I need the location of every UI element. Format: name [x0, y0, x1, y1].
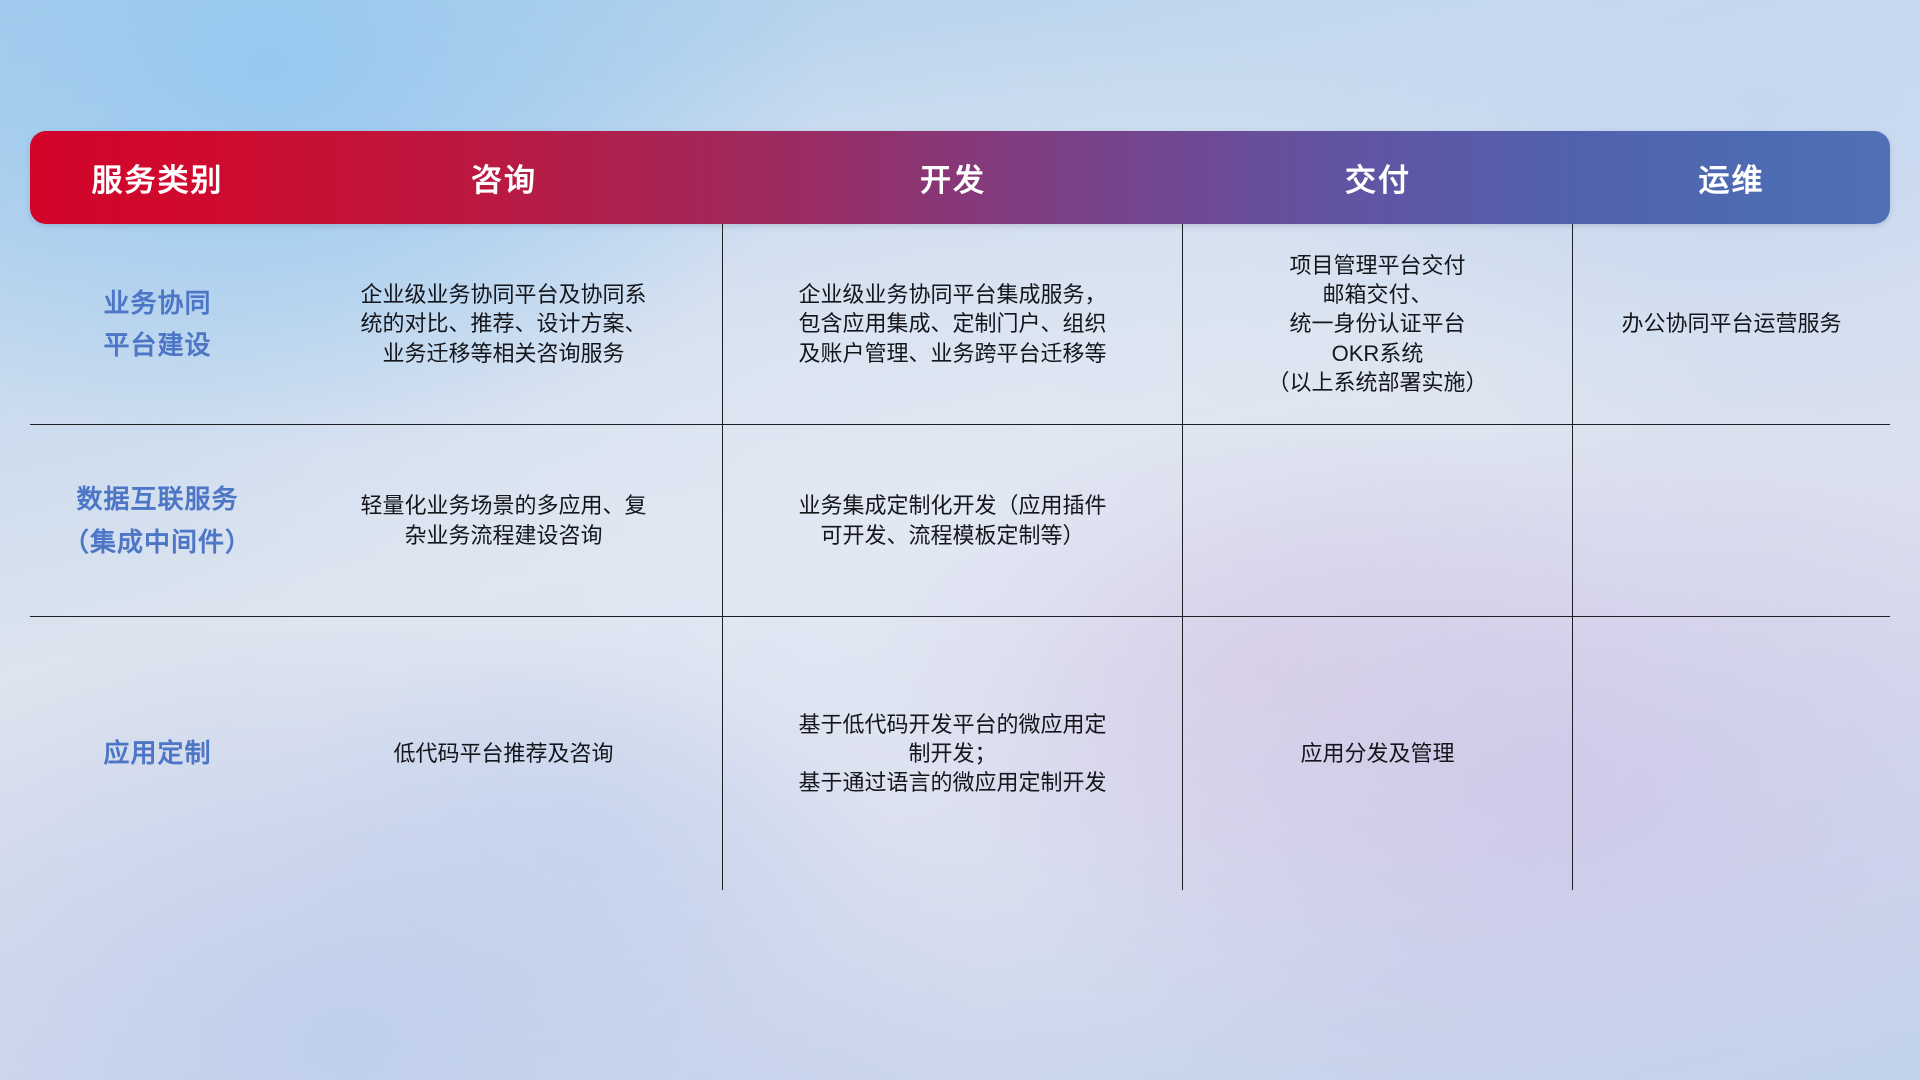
table-header-row: 服务类别 咨询 开发 交付 运维	[30, 131, 1890, 224]
cell-development: 基于低代码开发平台的微应用定 制开发； 基于通过语言的微应用定制开发	[723, 617, 1183, 890]
cell-operations	[1573, 425, 1890, 616]
row-category-label: 业务协同 平台建设	[103, 282, 211, 366]
column-header-operations: 运维	[1573, 131, 1890, 224]
row-category-cell: 应用定制	[30, 617, 285, 890]
row-category-label: 应用定制	[103, 732, 211, 774]
cell-consulting: 企业级业务协同平台及协同系 统的对比、推荐、设计方案、 业务迁移等相关咨询服务	[285, 224, 723, 424]
cell-development: 业务集成定制化开发（应用插件 可开发、流程模板定制等）	[723, 425, 1183, 616]
cell-delivery: 应用分发及管理	[1183, 617, 1573, 890]
cell-consulting: 低代码平台推荐及咨询	[285, 617, 723, 890]
cell-delivery	[1183, 425, 1573, 616]
table-row: 业务协同 平台建设 企业级业务协同平台及协同系 统的对比、推荐、设计方案、 业务…	[30, 224, 1890, 425]
service-matrix-table: 服务类别 咨询 开发 交付 运维 业务协同 平台建设 企业级业务协同平台及协同系…	[30, 110, 1890, 920]
table-body: 业务协同 平台建设 企业级业务协同平台及协同系 统的对比、推荐、设计方案、 业务…	[30, 224, 1890, 890]
row-category-cell: 数据互联服务 （集成中间件）	[30, 425, 285, 616]
column-header-delivery: 交付	[1183, 131, 1573, 224]
column-header-consulting: 咨询	[285, 131, 723, 224]
cell-delivery: 项目管理平台交付 邮箱交付、 统一身份认证平台 OKR系统 （以上系统部署实施）	[1183, 224, 1573, 424]
cell-operations: 办公协同平台运营服务	[1573, 224, 1890, 424]
table-row: 应用定制 低代码平台推荐及咨询 基于低代码开发平台的微应用定 制开发； 基于通过…	[30, 617, 1890, 890]
cell-operations	[1573, 617, 1890, 890]
column-header-service-category: 服务类别	[30, 131, 285, 224]
row-category-cell: 业务协同 平台建设	[30, 224, 285, 424]
cell-development: 企业级业务协同平台集成服务， 包含应用集成、定制门户、组织 及账户管理、业务跨平…	[723, 224, 1183, 424]
row-category-label: 数据互联服务 （集成中间件）	[63, 478, 252, 562]
cell-consulting: 轻量化业务场景的多应用、复 杂业务流程建设咨询	[285, 425, 723, 616]
table-row: 数据互联服务 （集成中间件） 轻量化业务场景的多应用、复 杂业务流程建设咨询 业…	[30, 425, 1890, 617]
column-header-development: 开发	[723, 131, 1183, 224]
